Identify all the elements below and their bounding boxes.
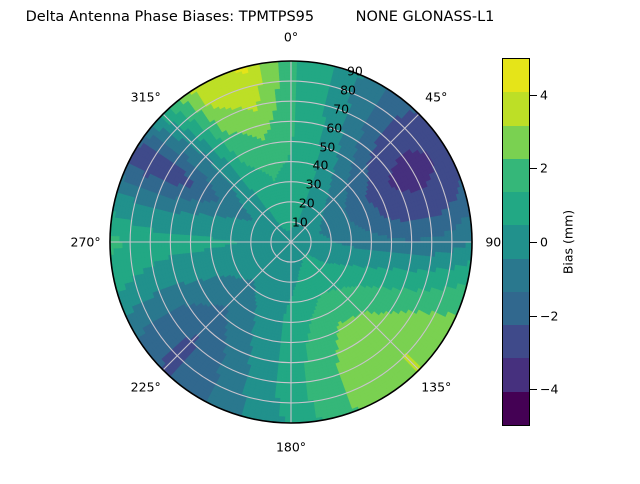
colorbar-band xyxy=(503,92,529,125)
radial-tick-label: 80 xyxy=(340,82,356,97)
figure-canvas: Delta Antenna Phase Biases: TPMTPS95 NON… xyxy=(0,0,640,480)
radial-tick-label: 90 xyxy=(347,63,363,78)
angular-tick-label: 270° xyxy=(71,235,101,250)
colorbar-band xyxy=(503,192,529,225)
colorbar-tick-mark xyxy=(530,389,537,390)
radial-tick-label: 20 xyxy=(299,196,315,211)
colorbar-gradient xyxy=(502,58,530,426)
colorbar-label: Bias (mm) xyxy=(561,210,576,274)
radial-tick-label: 10 xyxy=(292,215,308,230)
radial-tick-label: 30 xyxy=(306,177,322,192)
angular-tick-label: 45° xyxy=(425,89,447,104)
colorbar-band xyxy=(503,358,529,391)
colorbar-axes: 420−2−4 Bias (mm) xyxy=(498,0,640,480)
colorbar-band xyxy=(503,392,529,425)
colorbar-band xyxy=(503,126,529,159)
colorbar-band xyxy=(503,259,529,292)
angular-tick-label: 0° xyxy=(284,29,298,44)
colorbar-band xyxy=(503,59,529,92)
polar-gridlines xyxy=(110,61,472,423)
colorbar-tick-mark xyxy=(530,242,537,243)
angular-tick-label: 315° xyxy=(131,89,161,104)
radial-tick-label: 50 xyxy=(319,139,335,154)
angular-tick-label: 135° xyxy=(421,380,451,395)
radial-tick-label: 60 xyxy=(326,120,342,135)
colorbar-tick-mark xyxy=(530,168,537,169)
radial-tick-label: 40 xyxy=(313,158,329,173)
colorbar-tick-label: 4 xyxy=(540,87,548,102)
colorbar-tick-mark xyxy=(530,316,537,317)
angular-tick-label: 180° xyxy=(276,440,306,455)
colorbar-tick-mark xyxy=(530,95,537,96)
colorbar-band xyxy=(503,225,529,258)
radial-tick-label: 70 xyxy=(333,101,349,116)
colorbar-band xyxy=(503,159,529,192)
colorbar-tick-label: 2 xyxy=(540,161,548,176)
colorbar-band xyxy=(503,292,529,325)
colorbar-tick-label: −2 xyxy=(540,308,558,323)
colorbar-tick-label: −4 xyxy=(540,382,558,397)
colorbar-band xyxy=(503,325,529,358)
colorbar-tick-label: 0 xyxy=(540,235,548,250)
angular-tick-label: 225° xyxy=(131,380,161,395)
polar-axes: 0°45°90°135°180°225°270°315°102030405060… xyxy=(0,0,520,480)
